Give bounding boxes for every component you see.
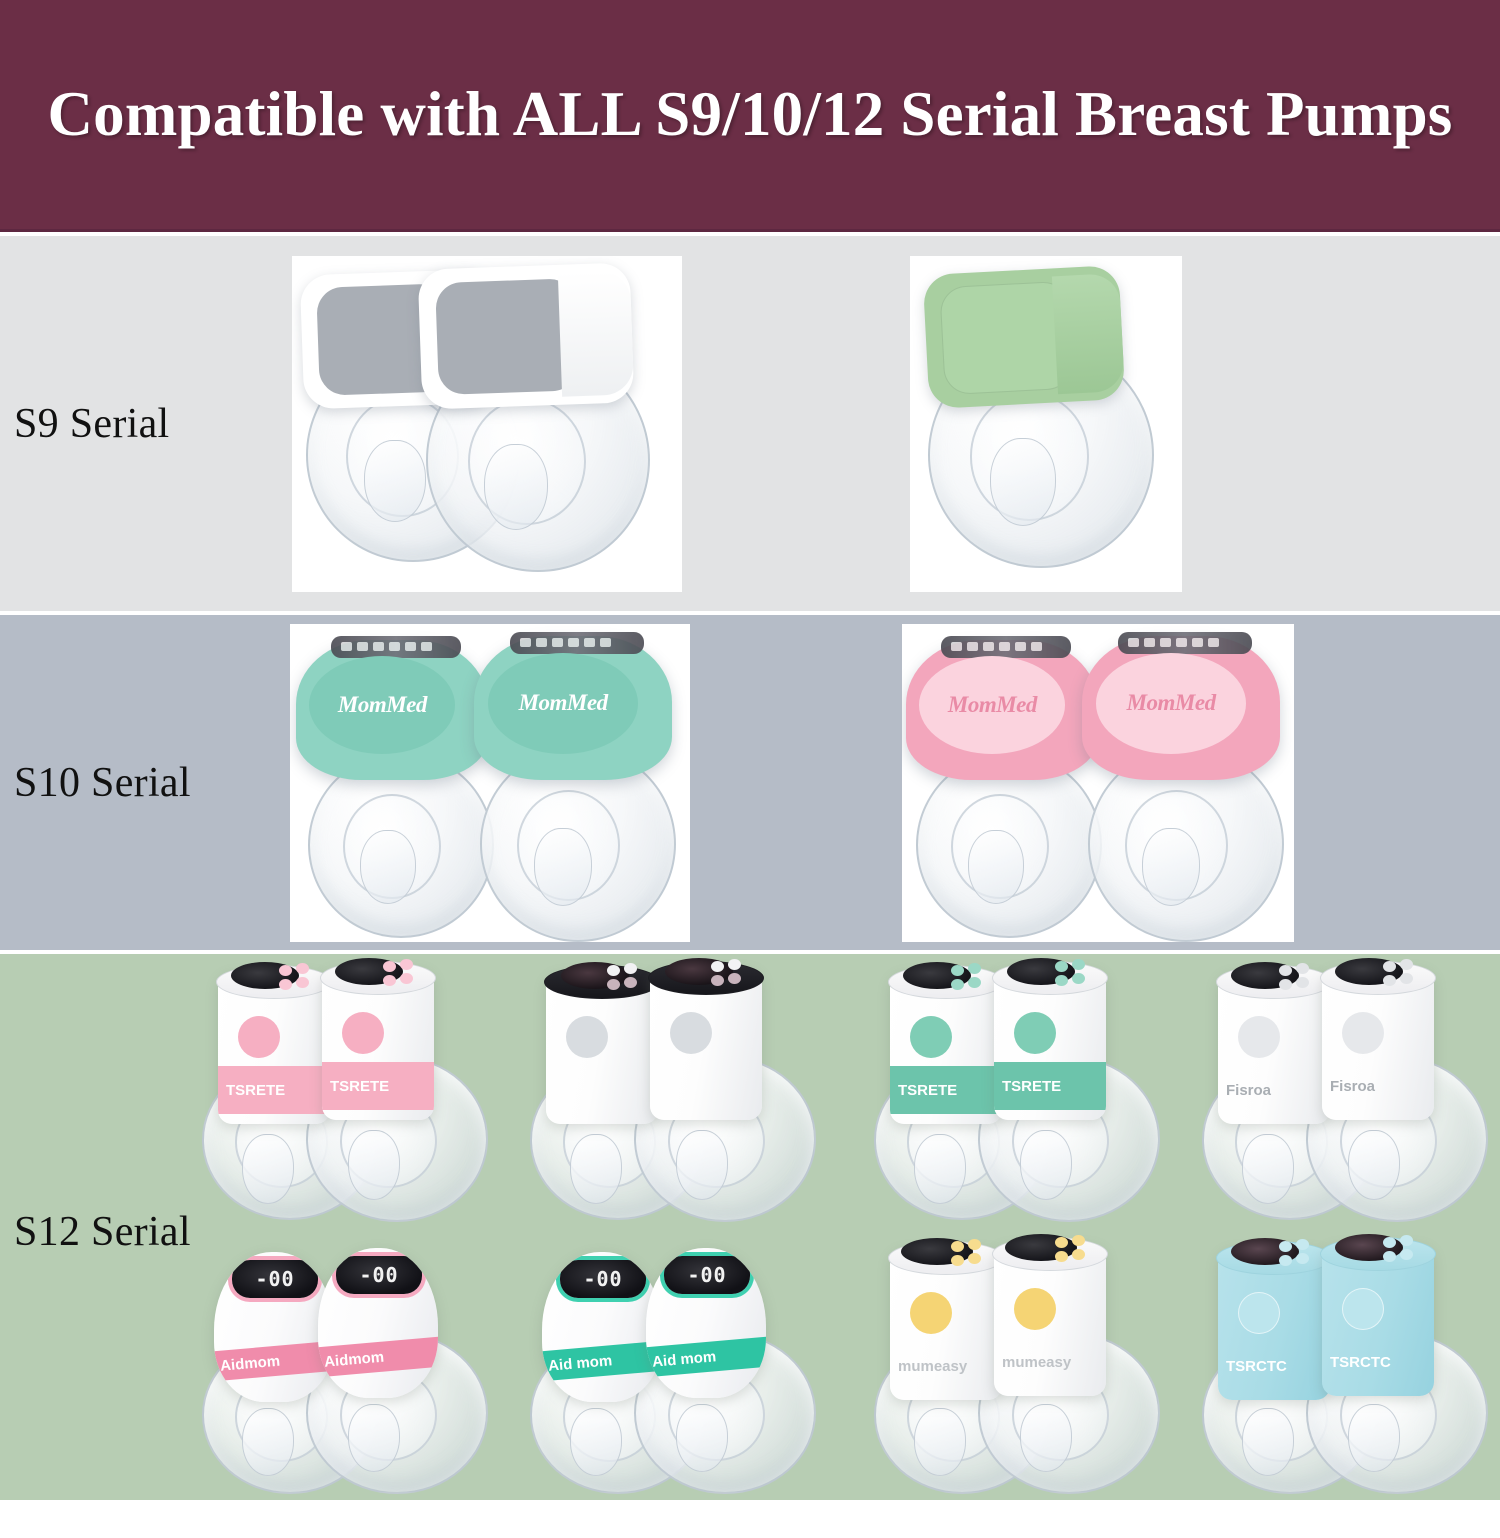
brand-logo: TSRETE xyxy=(1002,1078,1061,1095)
pump-unit: TSRETE xyxy=(986,968,1114,1258)
compatibility-infographic: Compatible with ALL S9/10/12 Serial Brea… xyxy=(0,0,1500,1500)
row-s12: S12 Serial TSRETE xyxy=(0,954,1500,1500)
brand-logo: TSRETE xyxy=(898,1082,957,1099)
led-display: -00 xyxy=(664,1256,750,1294)
brand-logo: TSRETE xyxy=(226,1082,285,1099)
brand-logo: MomMed xyxy=(519,690,608,716)
pump-unit xyxy=(642,968,770,1258)
brand-logo: TSRCTC xyxy=(1226,1358,1287,1375)
pump-motor xyxy=(418,262,635,409)
brand-logo: Aid mom xyxy=(651,1348,716,1371)
product-card-s12-aidmom-teal: -00 Aid mom -00 Aid mom xyxy=(524,1240,824,1496)
product-card-s12-white-unbranded xyxy=(524,964,824,1226)
product-card-s12-mumeasy-yellow: mumeasy xyxy=(868,1240,1168,1496)
pump-motor xyxy=(923,264,1126,408)
brand-logo: MomMed xyxy=(948,692,1037,718)
product-card-s12-tsrctc-blue: TSRCTC xyxy=(1196,1240,1496,1496)
pump-unit: TSRCTC xyxy=(1314,1244,1442,1534)
brand-logo: TSRCTC xyxy=(1330,1354,1391,1371)
brand-logo: Aid mom xyxy=(547,1352,612,1375)
pump-unit: mumeasy xyxy=(986,1244,1114,1534)
brand-logo: TSRETE xyxy=(330,1078,389,1095)
brand-logo: Fisroa xyxy=(1226,1082,1271,1099)
product-card-s12-tsrete-pink: TSRETE xyxy=(196,964,496,1226)
pump-motor: MomMed xyxy=(906,640,1098,780)
pump-unit: Fisroa xyxy=(1314,968,1442,1258)
brand-logo: MomMed xyxy=(1127,690,1216,716)
row-label-s9: S9 Serial xyxy=(0,400,210,448)
product-card-s12-tsrete-mint: TSRETE xyxy=(868,964,1168,1226)
brand-logo: Fisroa xyxy=(1330,1078,1375,1095)
pump-motor: MomMed xyxy=(296,640,488,780)
row-s9: S9 Serial xyxy=(0,236,1500,611)
pump-motor: MomMed xyxy=(474,636,672,780)
product-card-s12-fisroa-white: Fisroa xyxy=(1196,964,1496,1226)
brand-logo: MomMed xyxy=(338,692,427,718)
product-card-s10-mint-double: MomMed MomMed xyxy=(290,624,690,942)
header-banner: Compatible with ALL S9/10/12 Serial Brea… xyxy=(0,0,1500,232)
row-label-s12: S12 Serial xyxy=(0,1208,210,1256)
s12-group-upper: TSRETE xyxy=(196,964,1496,1226)
led-display: -00 xyxy=(336,1256,422,1294)
row-body-s10: MomMed MomMed xyxy=(210,615,1500,950)
s12-group-lower: -00 Aidmom -00 Aidmom xyxy=(196,1240,1496,1496)
pump-motor: MomMed xyxy=(1082,636,1280,780)
product-card-s10-pink-double: MomMed MomMed xyxy=(902,624,1294,942)
pump-unit: -00 Aid mom xyxy=(642,1244,770,1534)
page-title: Compatible with ALL S9/10/12 Serial Brea… xyxy=(47,78,1452,151)
product-card-s9-white-double xyxy=(292,256,682,592)
row-s10: S10 Serial MomMed xyxy=(0,615,1500,950)
product-card-s9-green-single xyxy=(910,256,1182,592)
brand-logo: mumeasy xyxy=(1002,1354,1071,1371)
pump-unit: -00 Aidmom xyxy=(314,1244,442,1534)
led-display: -00 xyxy=(232,1260,318,1298)
brand-logo: Aidmom xyxy=(219,1352,280,1374)
row-body-s9 xyxy=(210,236,1500,611)
row-label-s10: S10 Serial xyxy=(0,759,210,807)
led-display: -00 xyxy=(560,1260,646,1298)
product-card-s12-aidmom-pink: -00 Aidmom -00 Aidmom xyxy=(196,1240,496,1496)
pump-unit: TSRETE xyxy=(314,968,442,1258)
brand-logo: mumeasy xyxy=(898,1358,967,1375)
brand-logo: Aidmom xyxy=(323,1348,384,1370)
